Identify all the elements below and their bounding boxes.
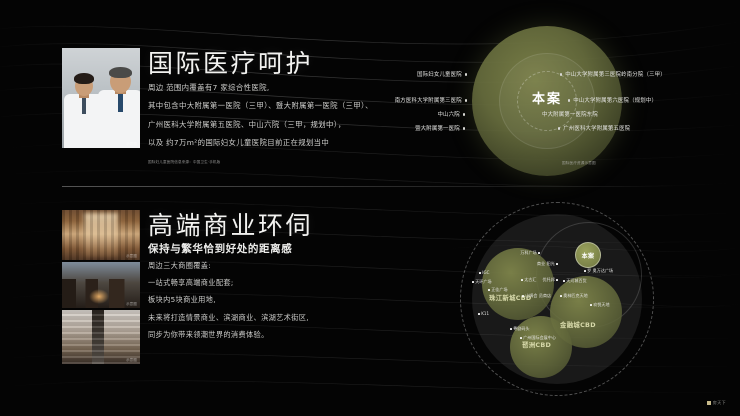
- body-line: 板块内5块商业用地,: [148, 296, 309, 303]
- body-line: 以及 约7万m²的国际妇女儿童医院目前正在规划当中: [148, 139, 373, 146]
- chart-center-marker: 本案: [575, 242, 601, 268]
- commercial-photo-street: 示意图: [62, 262, 140, 308]
- poi-label: 粤剧码头: [510, 326, 530, 332]
- section-divider: [62, 186, 678, 187]
- poi-label: 天环广场: [472, 279, 492, 285]
- hospital-label: 国际妇女儿童医院: [332, 70, 467, 78]
- hospital-label: 中山六院: [332, 110, 465, 118]
- business-cbd-chart: 珠江新城CBD 金融城CBD 琶洲CBD 本案 万科广场 商业 阳光 IGC 天…: [432, 198, 682, 398]
- watermark: 房天下: [707, 400, 726, 406]
- poi-label: 奥林匹克天地: [560, 293, 588, 299]
- business-body-text: 周边三大商圈覆盖: 一站式畅享高端商业配套; 板块内5块商业用地, 未来将打造情…: [148, 262, 309, 348]
- commercial-photo-atrium: 示意图: [62, 310, 140, 364]
- page-title-medical: 国际医疗呵护: [148, 44, 313, 80]
- hospital-label: 南方医科大学附属第三医院: [292, 96, 467, 104]
- page-title-business: 高端商业环伺: [148, 206, 313, 242]
- cbd-cluster-label: 金融城CBD: [560, 320, 596, 329]
- medical-radius-chart: 本案 国际妇女儿童医院 南方医科大学附属第三医院 中山六院 暨大附属第一医院 中…: [472, 26, 622, 176]
- poi-label: 商业 阳光: [516, 261, 558, 267]
- poi-label: 山姆会 员商店: [522, 293, 551, 299]
- hospital-label: 广州医科大学附属第五医院: [558, 124, 630, 132]
- photo-caption: 示意图: [126, 141, 137, 146]
- body-line: 一站式畅享高端商业配套;: [148, 279, 309, 286]
- body-line: 同步为你带来领潮世界的消费体验。: [148, 331, 309, 338]
- poi-label: 玖悦天地: [590, 302, 610, 308]
- watermark-logo-icon: [707, 401, 711, 405]
- medical-chart-footnote: 国际医疗资源示意图: [562, 161, 596, 166]
- photo-caption: 示意图: [126, 357, 137, 362]
- poi-label: IGC: [479, 270, 490, 275]
- poi-label: K11: [478, 311, 489, 316]
- hospital-label: 暨大附属第一医院: [322, 124, 465, 132]
- hospital-label: 中山大学附属第三医院岭南分院（三甲）: [560, 70, 666, 78]
- cbd-cluster-label: 琶洲CBD: [522, 340, 551, 349]
- hospital-label: 中大附属第一医院东院: [542, 110, 598, 118]
- body-line: 周边三大商圈覆盖:: [148, 262, 309, 269]
- slide-canvas: 示意图 国际医疗呵护 周边 范围内覆盖有7 家综合性医院, 其中包含中大附属第一…: [0, 0, 740, 416]
- poi-label: 广州国际会展中心: [520, 335, 556, 341]
- poi-label: 万科广场: [498, 250, 540, 256]
- hospital-label: 中山大学附属第六医院（规划中）: [568, 96, 657, 104]
- poi-label: 天河城百货: [563, 278, 587, 284]
- commercial-photo-interior: 示意图: [62, 210, 140, 260]
- cbd-cluster-zhujiang: [482, 248, 554, 320]
- poi-label: 优托邦: [522, 277, 558, 283]
- business-subhead: 保持与繁华恰到好处的距离感: [148, 241, 292, 256]
- body-line: 未来将打造情景商业、滨湖商业、滨湖艺术街区,: [148, 314, 309, 321]
- poi-label: 罗 奥万达广场: [584, 268, 613, 274]
- photo-caption: 示意图: [126, 253, 137, 258]
- body-line: 周边 范围内覆盖有7 家综合性医院,: [148, 84, 373, 91]
- medical-footnote: 国际妇儿童医院信息来源：中国卫生·手机版: [148, 160, 220, 165]
- photo-caption: 示意图: [126, 301, 137, 306]
- doctors-photo: 示意图: [62, 48, 140, 148]
- poi-label: 正佳广场: [488, 287, 508, 293]
